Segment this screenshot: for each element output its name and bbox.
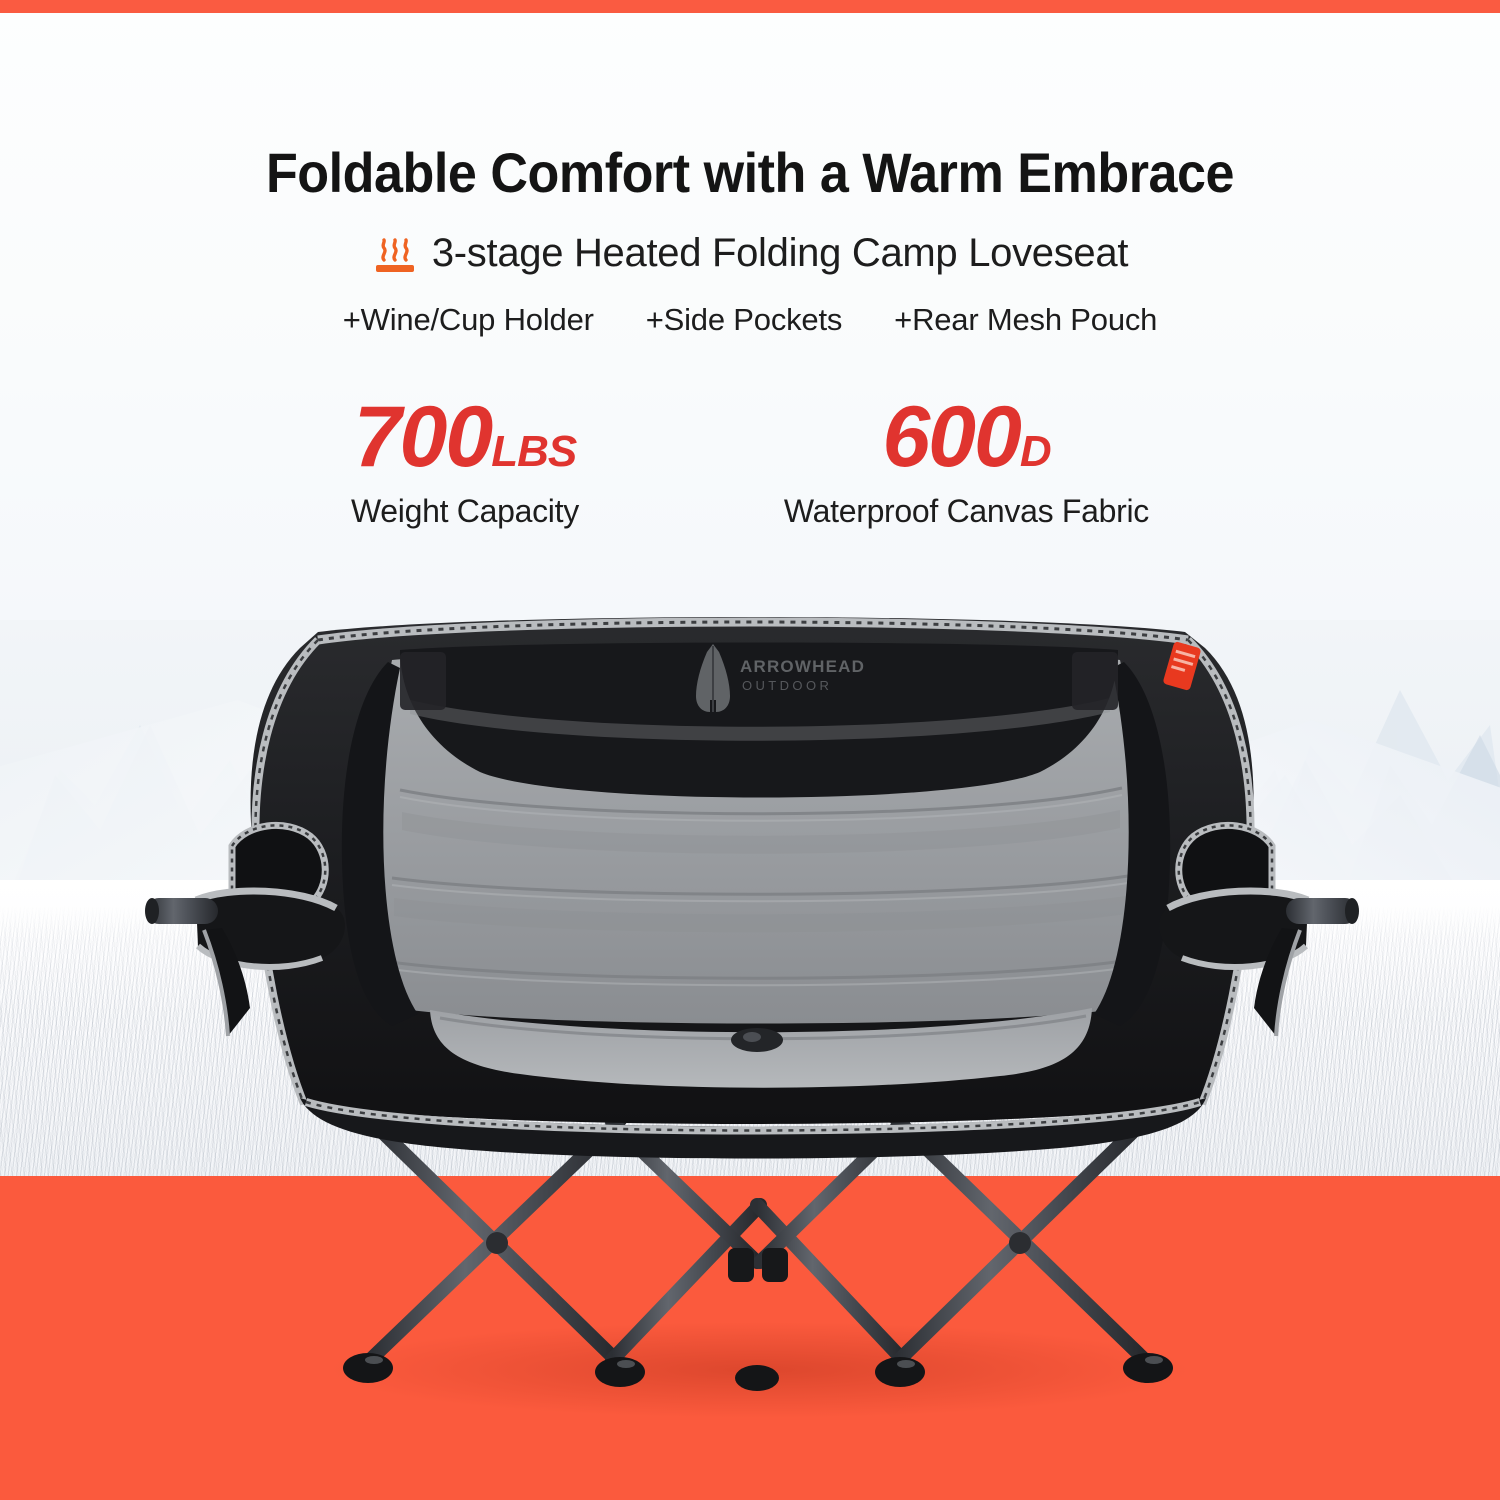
feature-item: +Side Pockets [646,302,842,338]
stat-unit: D [1020,431,1051,473]
top-brand-bar [0,0,1500,13]
stat-label: Weight Capacity [351,493,579,530]
stat-weight-capacity: 700 LBS Weight Capacity [351,396,579,530]
product-subtitle-row: 3-stage Heated Folding Camp Loveseat [0,231,1500,276]
tab-right [1072,652,1118,710]
stat-number: 600 [882,396,1020,479]
tab-left [400,652,446,710]
product-infographic: ARROWHEAD OUTDOOR Foldable Comfort with … [0,0,1500,1500]
stat-value-row: 700 LBS [351,396,579,479]
stat-fabric-denier: 600 D Waterproof Canvas Fabric [784,396,1149,530]
feature-item: +Rear Mesh Pouch [894,302,1157,338]
marketing-copy: Foldable Comfort with a Warm Embrace 3-s… [0,0,1500,530]
stat-unit: LBS [491,431,576,473]
feature-item: +Wine/Cup Holder [343,302,594,338]
feature-list: +Wine/Cup Holder +Side Pockets +Rear Mes… [0,302,1500,338]
stat-value-row: 600 D [784,396,1149,479]
brand-name-text: ARROWHEAD [740,657,865,676]
brand-sub-text: OUTDOOR [742,678,832,693]
stat-number: 700 [354,396,492,479]
page-title: Foldable Comfort with a Warm Embrace [53,140,1448,205]
heat-waves-icon [372,232,418,276]
spec-stats: 700 LBS Weight Capacity 600 D Waterproof… [0,396,1500,530]
stat-label: Waterproof Canvas Fabric [784,493,1149,530]
product-subtitle-text: 3-stage Heated Folding Camp Loveseat [432,231,1128,276]
